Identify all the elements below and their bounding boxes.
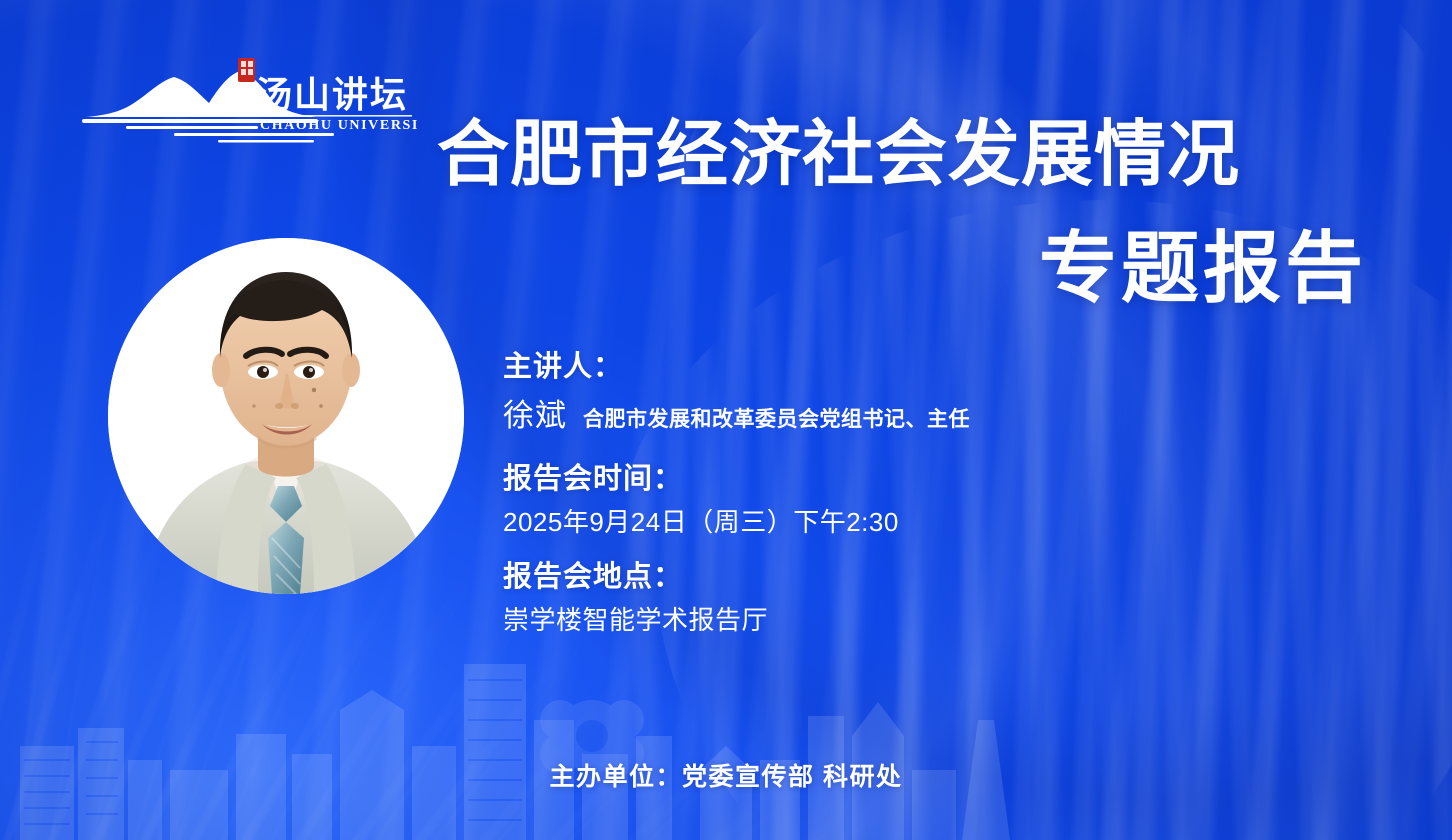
time-value: 2025年9月24日（周三）下午2:30 <box>503 504 1283 540</box>
svg-text:汤山讲坛: 汤山讲坛 <box>256 74 408 115</box>
event-poster: 汤山讲坛 CHAOHU UNIVERSITY <box>0 0 1452 840</box>
speaker-name: 徐斌 <box>503 396 567 436</box>
red-seal-icon <box>238 58 255 82</box>
organizer-text: 主办单位：党委宣传部 科研处 <box>550 763 903 791</box>
speaker-label: 主讲人： <box>503 348 1283 386</box>
headline-line-2: 专题报告 <box>437 224 1367 312</box>
event-details: 主讲人： 徐斌 合肥市发展和改革委员会党组书记、主任 报告会时间： 2025年9… <box>503 348 1283 638</box>
poster-headline: 合肥市经济社会发展情况 专题报告 <box>437 114 1367 312</box>
speaker-role: 合肥市发展和改革委员会党组书记、主任 <box>583 405 970 435</box>
time-label: 报告会时间： <box>503 460 1283 498</box>
chaohu-university-logo: 汤山讲坛 CHAOHU UNIVERSITY <box>78 55 418 145</box>
venue-label: 报告会地点： <box>503 558 1283 596</box>
headline-line-1: 合肥市经济社会发展情况 <box>437 114 1367 196</box>
svg-text:CHAOHU UNIVERSITY: CHAOHU UNIVERSITY <box>260 118 418 133</box>
venue-value: 崇学楼智能学术报告厅 <box>503 602 1283 638</box>
organizer-footer: 主办单位：党委宣传部 科研处 <box>0 757 1452 793</box>
speaker-portrait <box>108 238 464 594</box>
city-skyline-silhouette <box>0 650 1060 840</box>
speaker-row: 徐斌 合肥市发展和改革委员会党组书记、主任 <box>503 396 1283 436</box>
